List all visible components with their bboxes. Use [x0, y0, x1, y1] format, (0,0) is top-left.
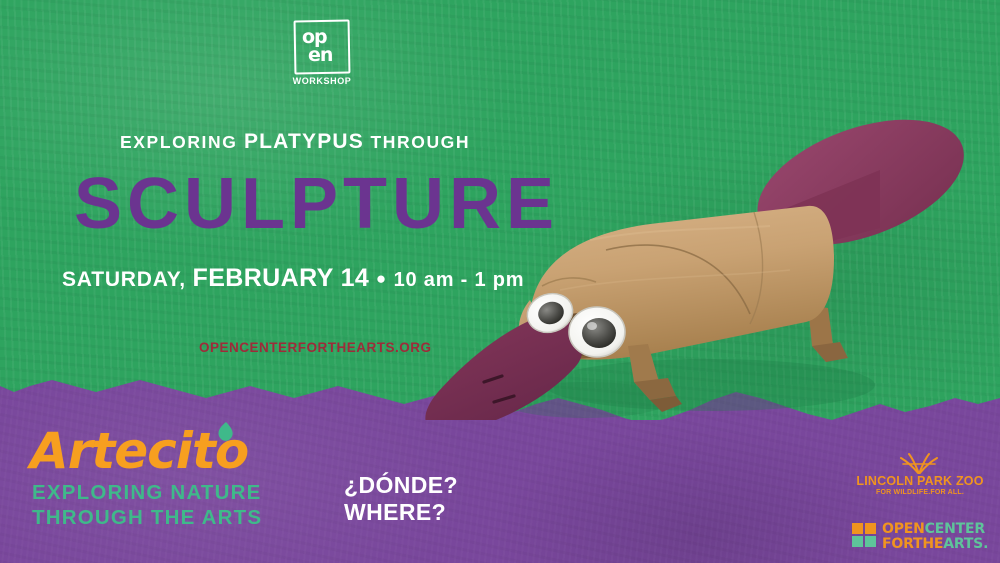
platypus-right-eye [569, 307, 625, 357]
dateline-separator: ● [376, 269, 387, 288]
open-workshop-en-text: en [308, 46, 332, 65]
zoo-grass-icon [898, 452, 940, 474]
kicker-prefix: EXPLORING [120, 132, 244, 152]
location-prompt: ¿DÓNDE? WHERE? [344, 472, 458, 526]
kicker-subject: PLATYPUS [244, 130, 364, 153]
open-center-mark-icon [852, 522, 878, 548]
event-time: 10 am - 1 pm [394, 269, 525, 291]
location-prompt-spanish: ¿DÓNDE? [344, 472, 458, 499]
artecito-logo: Artecito EXPLORING NATURE THROUGH THE AR… [30, 424, 290, 534]
poster-canvas: op en WORKSHOP [0, 0, 1000, 563]
open-workshop-wordmark: WORKSHOP [288, 76, 356, 86]
open-center-line1: OPENCENTER [882, 522, 985, 536]
artecito-tagline-line2: THROUGH THE ARTS [32, 505, 292, 530]
zoo-name: LINCOLN PARK ZOO [856, 474, 984, 488]
open-center-word-arts: ARTS. [943, 536, 988, 552]
leaf-icon [217, 422, 235, 442]
website-url[interactable]: OPENCENTERFORTHEARTS.ORG [199, 340, 432, 355]
platypus-illustration [410, 100, 1000, 420]
lincoln-park-zoo-logo: LINCOLN PARK ZOO FOR WILDLIFE.FOR ALL. [856, 452, 984, 504]
artecito-tagline: EXPLORING NATURE THROUGH THE ARTS [32, 480, 292, 530]
page-title: SCULPTURE [74, 168, 559, 240]
event-dateline: SATURDAY, FEBRUARY 14 ● 10 am - 1 pm [62, 264, 524, 293]
open-center-line2: FORTHEARTS. [882, 537, 988, 551]
event-date: FEBRUARY 14 [193, 264, 370, 292]
location-prompt-english: WHERE? [344, 499, 458, 526]
kicker-line: EXPLORING PLATYPUS THROUGH [120, 130, 470, 154]
open-center-word-open: OPEN [882, 521, 925, 537]
zoo-tagline: FOR WILDLIFE.FOR ALL. [856, 489, 984, 496]
open-center-word-center: CENTER [925, 521, 985, 537]
artecito-wordmark: Artecito [30, 424, 290, 480]
platypus-sculpture-photo [410, 100, 1000, 420]
open-center-word-forthe: FORTHE [882, 536, 943, 552]
open-center-logo: OPENCENTER FORTHEARTS. [852, 520, 990, 554]
artecito-tagline-line1: EXPLORING NATURE [32, 480, 292, 505]
open-workshop-logo: op en WORKSHOP [288, 18, 356, 88]
event-day: SATURDAY, [62, 268, 193, 291]
kicker-suffix: THROUGH [364, 132, 470, 152]
